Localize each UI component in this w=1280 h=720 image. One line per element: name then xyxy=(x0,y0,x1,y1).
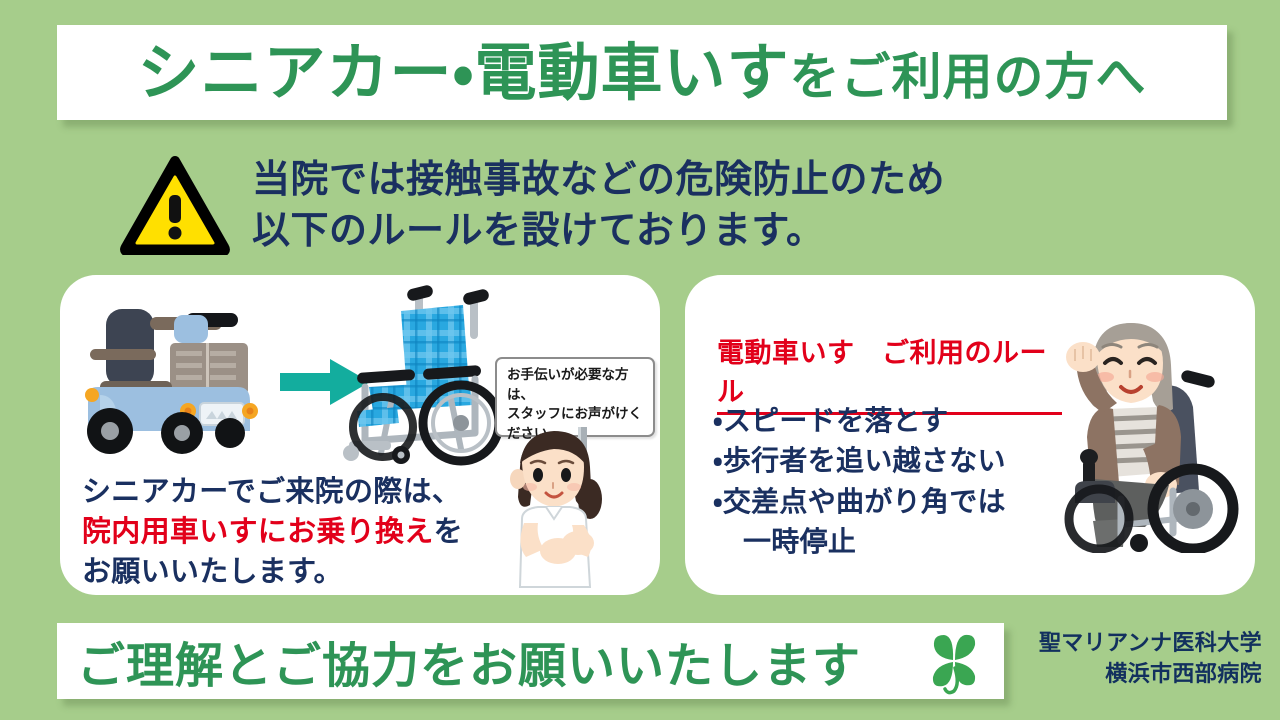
hospital-name-line2: 横浜市西部病院 xyxy=(1012,659,1262,690)
rule-item-2: ・歩行者を追い越さない xyxy=(713,441,1078,481)
nurse-with-sign-illustration xyxy=(492,427,652,599)
four-leaf-clover-icon xyxy=(920,628,988,696)
mobility-scooter-illustration xyxy=(78,291,293,456)
sign-line-2: スタッフにお声がけく xyxy=(507,405,645,425)
right-rules-card: 電動車いす ご利用のルール ・スピードを落とす ・歩行者を追い越さない ・交差点… xyxy=(685,275,1255,595)
left-card-caption: シニアカーでご来院の際は、 院内用車いすにお乗り換えを お願いいたします。 xyxy=(82,471,502,591)
warning-text-line1: 当院では接触事故などの危険防止のため xyxy=(252,154,945,204)
page-title-sub: をご利用の方へ xyxy=(790,48,1147,106)
hospital-name-line1: 聖マリアンナ医科大学 xyxy=(1012,628,1262,659)
footer-message: ご理解とご協力をお願いいたします xyxy=(77,626,861,696)
poster-stage: シニアカー・電動車いすをご利用の方へ 当院では接触事故などの危険防止のため 以下… xyxy=(0,0,1280,720)
rule-item-3: ・交差点や曲がり角では xyxy=(713,482,1078,522)
left-caption-line2-tail: を xyxy=(434,514,463,548)
rules-list: ・スピードを落とす ・歩行者を追い越さない ・交差点や曲がり角では 一時停止 xyxy=(713,401,1078,562)
left-caption-line2: 院内用車いすにお乗り換えを xyxy=(82,511,502,551)
left-info-card: お手伝いが必要な方は、 スタッフにお声がけく ださい。 xyxy=(60,275,660,595)
footer-banner: ご理解とご協力をお願いいたします xyxy=(57,623,1004,699)
warning-triangle-icon xyxy=(120,155,230,255)
hospital-name: 聖マリアンナ医科大学 横浜市西部病院 xyxy=(1012,628,1262,690)
page-title: シニアカー・電動車いすをご利用の方へ xyxy=(137,42,1146,104)
sign-line-1: お手伝いが必要な方は、 xyxy=(507,366,645,405)
title-banner: シニアカー・電動車いすをご利用の方へ xyxy=(57,25,1227,120)
staff-help-sign-text: お手伝いが必要な方は、 スタッフにお声がけく ださい。 xyxy=(495,357,655,437)
page-title-main: シニアカー・電動車いす xyxy=(137,36,789,109)
elderly-electric-wheelchair-user-illustration xyxy=(1053,313,1243,553)
left-caption-line1: シニアカーでご来院の際は、 xyxy=(82,471,502,511)
rule-item-1: ・スピードを落とす xyxy=(713,401,1078,441)
warning-row: 当院では接触事故などの危険防止のため 以下のルールを設けております。 xyxy=(120,142,1180,267)
warning-text-line2: 以下のルールを設けております。 xyxy=(252,205,945,255)
left-caption-line3: お願いいたします。 xyxy=(82,551,502,591)
rule-item-3-cont: 一時停止 xyxy=(713,522,1078,562)
staff-help-sign: お手伝いが必要な方は、 スタッフにお声がけく ださい。 xyxy=(495,357,655,437)
warning-text: 当院では接触事故などの危険防止のため 以下のルールを設けております。 xyxy=(252,154,945,254)
left-caption-line2-red: 院内用車いすにお乗り換え xyxy=(82,514,434,548)
